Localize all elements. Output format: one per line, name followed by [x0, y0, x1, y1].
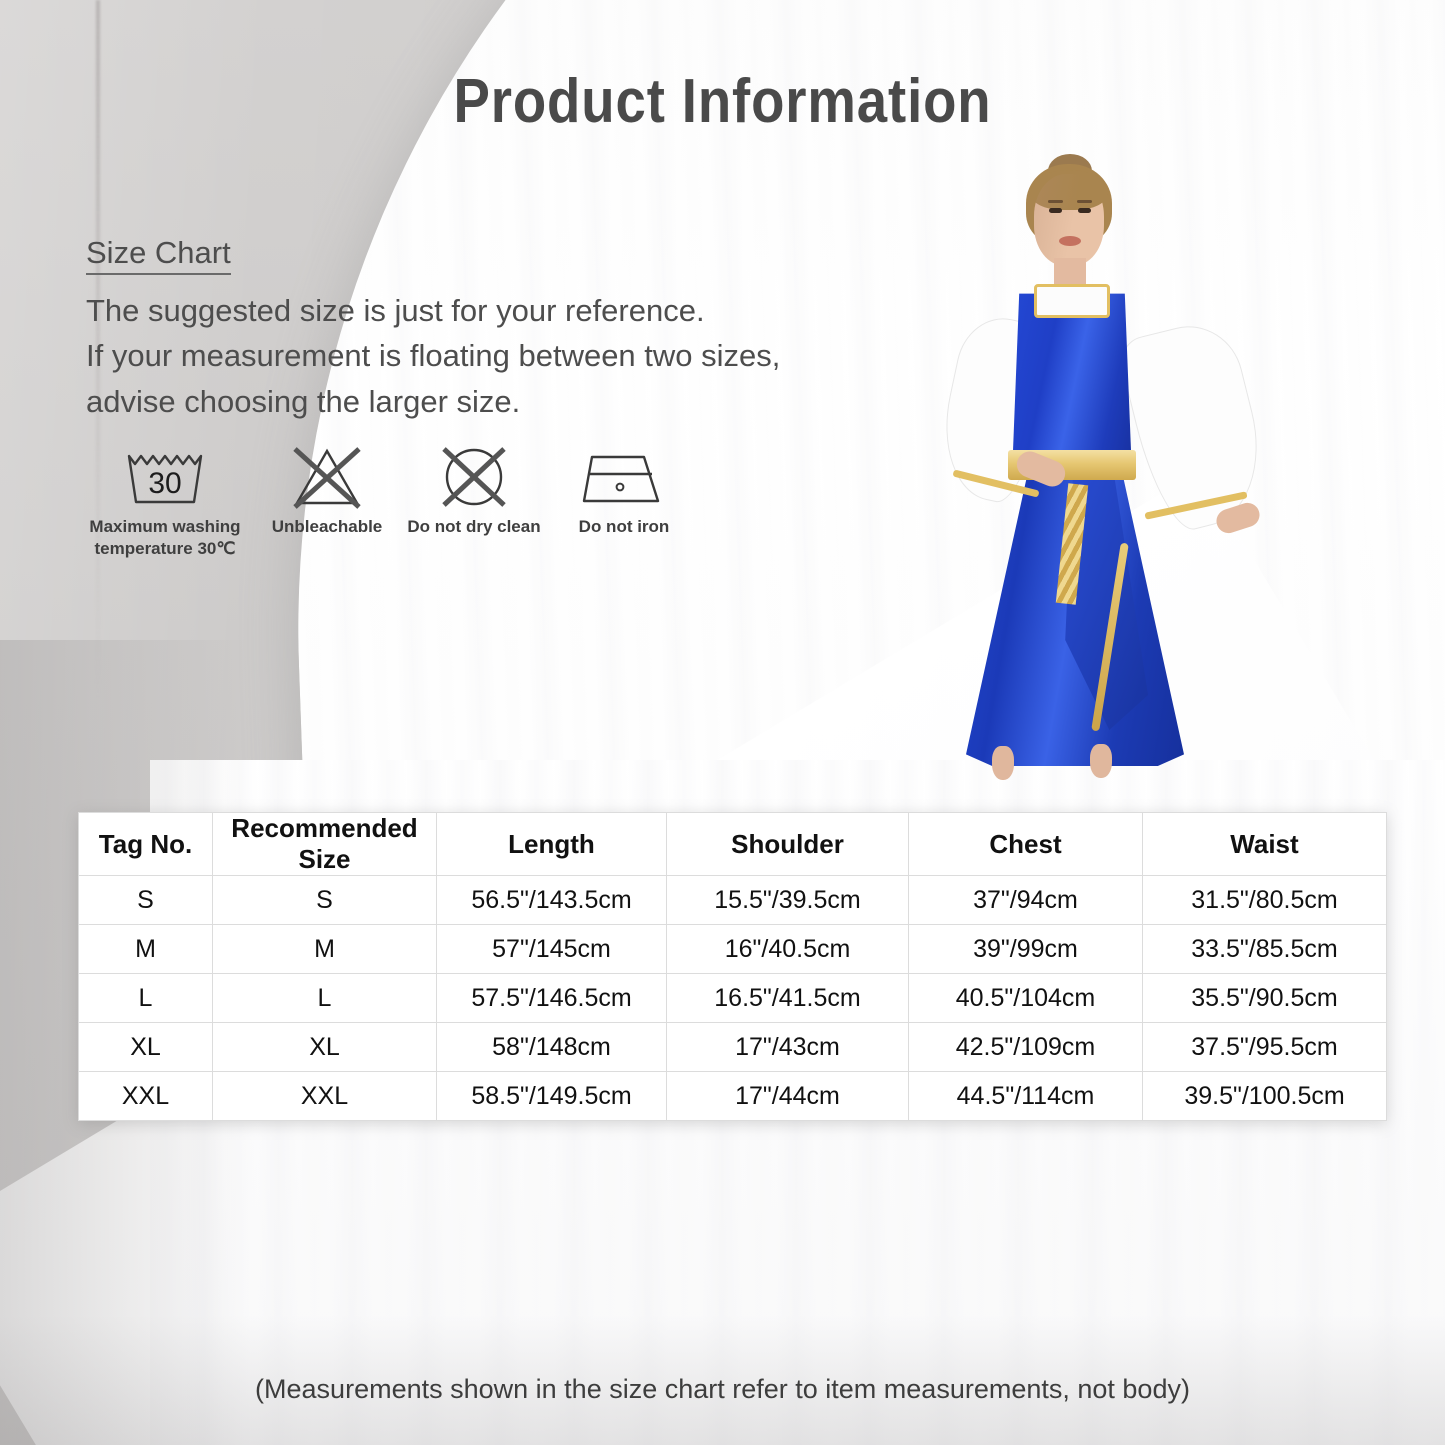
table-cell: 39"/99cm — [909, 925, 1143, 974]
size-chart-line-2: If your measurement is floating between … — [86, 333, 806, 378]
table-cell: 57"/145cm — [437, 925, 667, 974]
size-chart-table-wrapper: Tag No. Recommended Size Length Shoulder… — [78, 812, 1386, 1121]
table-cell: 16"/40.5cm — [667, 925, 909, 974]
table-cell: XL — [213, 1023, 437, 1072]
wash-tub-30-icon: 30 — [86, 438, 244, 516]
model-foot-right — [1090, 744, 1112, 778]
table-cell: 44.5"/114cm — [909, 1072, 1143, 1121]
table-row: S S 56.5"/143.5cm 15.5"/39.5cm 37"/94cm … — [79, 876, 1387, 925]
care-symbol-bleach: Unbleachable — [266, 438, 388, 538]
table-cell: 56.5"/143.5cm — [437, 876, 667, 925]
table-cell: 16.5"/41.5cm — [667, 974, 909, 1023]
care-label-wash: Maximum washing temperature 30℃ — [86, 516, 244, 560]
size-chart-note: Size Chart The suggested size is just fo… — [86, 236, 806, 424]
table-cell: 17"/44cm — [667, 1072, 909, 1121]
no-bleach-triangle-icon — [266, 438, 388, 516]
dress-neckline-trim — [1034, 284, 1110, 318]
table-header-cell: Chest — [909, 813, 1143, 876]
table-cell: 40.5"/104cm — [909, 974, 1143, 1023]
model-face-shading — [1034, 174, 1104, 266]
table-cell: XXL — [213, 1072, 437, 1121]
table-cell: L — [213, 974, 437, 1023]
care-symbol-wash: 30 Maximum washing temperature 30℃ — [86, 438, 244, 560]
care-label-iron: Do not iron — [560, 516, 688, 538]
table-header-cell: Shoulder — [667, 813, 909, 876]
table-cell: 37"/94cm — [909, 876, 1143, 925]
page-title: Product Information — [87, 66, 1359, 137]
table-cell: M — [213, 925, 437, 974]
model-eyebrow-right — [1077, 200, 1092, 203]
table-cell: M — [79, 925, 213, 974]
table-row: M M 57"/145cm 16"/40.5cm 39"/99cm 33.5"/… — [79, 925, 1387, 974]
table-cell: 37.5"/95.5cm — [1143, 1023, 1387, 1072]
model-foot-left — [992, 746, 1014, 780]
table-cell: 35.5"/90.5cm — [1143, 974, 1387, 1023]
care-label-bleach: Unbleachable — [266, 516, 388, 538]
care-label-dry-clean: Do not dry clean — [398, 516, 550, 538]
model-eye-right — [1078, 208, 1091, 213]
table-cell: XL — [79, 1023, 213, 1072]
table-header-cell: Recommended Size — [213, 813, 437, 876]
wash-temperature-value: 30 — [148, 467, 181, 500]
table-cell: S — [79, 876, 213, 925]
table-row: XXL XXL 58.5"/149.5cm 17"/44cm 44.5"/114… — [79, 1072, 1387, 1121]
table-header-cell: Waist — [1143, 813, 1387, 876]
measurements-footnote: (Measurements shown in the size chart re… — [0, 1374, 1445, 1405]
table-cell: 15.5"/39.5cm — [667, 876, 909, 925]
table-header-row: Tag No. Recommended Size Length Shoulder… — [79, 813, 1387, 876]
table-header-cell: Length — [437, 813, 667, 876]
table-header-cell: Tag No. — [79, 813, 213, 876]
table-cell: 58"/148cm — [437, 1023, 667, 1072]
table-cell: L — [79, 974, 213, 1023]
table-cell: 17"/43cm — [667, 1023, 909, 1072]
table-row: L L 57.5"/146.5cm 16.5"/41.5cm 40.5"/104… — [79, 974, 1387, 1023]
size-chart-line-3: advise choosing the larger size. — [86, 379, 806, 424]
size-chart-line-1: The suggested size is just for your refe… — [86, 288, 806, 333]
no-dry-clean-circle-icon — [398, 438, 550, 516]
table-cell: 57.5"/146.5cm — [437, 974, 667, 1023]
care-symbol-iron: Do not iron — [560, 438, 688, 538]
table-cell: 31.5"/80.5cm — [1143, 876, 1387, 925]
size-chart-table: Tag No. Recommended Size Length Shoulder… — [78, 812, 1387, 1121]
table-row: XL XL 58"/148cm 17"/43cm 42.5"/109cm 37.… — [79, 1023, 1387, 1072]
care-symbol-row: 30 Maximum washing temperature 30℃ Unble… — [86, 438, 706, 568]
model-eyebrow-left — [1048, 200, 1063, 203]
table-cell: S — [213, 876, 437, 925]
table-cell: 58.5"/149.5cm — [437, 1072, 667, 1121]
model-lips — [1059, 236, 1081, 246]
table-cell: 39.5"/100.5cm — [1143, 1072, 1387, 1121]
product-information-page: Product Information Size Chart The sugge… — [0, 0, 1445, 1445]
product-model-photo — [930, 150, 1270, 790]
care-symbol-dry-clean: Do not dry clean — [398, 438, 550, 538]
model-eye-left — [1049, 208, 1062, 213]
size-chart-heading: Size Chart — [86, 236, 231, 275]
table-cell: 33.5"/85.5cm — [1143, 925, 1387, 974]
table-cell: XXL — [79, 1072, 213, 1121]
no-iron-icon — [560, 438, 688, 516]
table-cell: 42.5"/109cm — [909, 1023, 1143, 1072]
